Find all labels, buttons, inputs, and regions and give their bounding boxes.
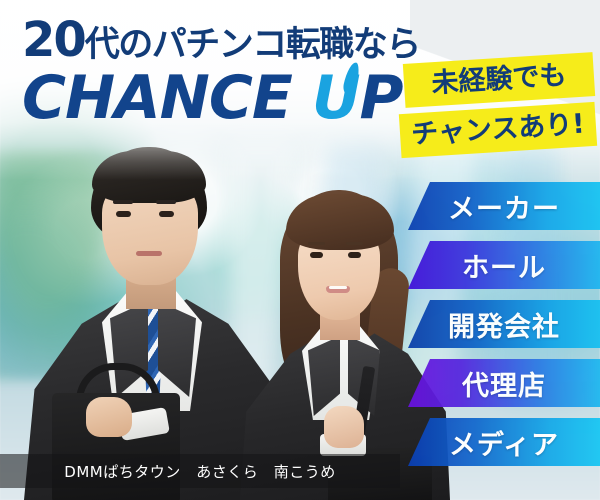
female-eyebrow-right <box>346 242 363 245</box>
headline-age-number: 20 <box>22 12 85 68</box>
category-bar-maker[interactable]: メーカー <box>408 182 600 230</box>
female-teeth <box>329 286 347 289</box>
logo-text-chance: CHANCE <box>22 63 312 133</box>
headline-line-1: 20代のパチンコ転職なら <box>22 16 420 64</box>
female-hand <box>324 406 364 448</box>
male-eye-right <box>159 211 174 217</box>
logo-chance-up: CHANCE UP <box>22 68 420 128</box>
female-eye-right <box>348 252 361 258</box>
female-hair-fringe <box>286 194 394 250</box>
female-eyebrow-left <box>308 242 325 245</box>
male-eyebrow-left <box>113 200 133 204</box>
female-eye-left <box>310 252 323 258</box>
headline-block: 20代のパチンコ転職なら CHANCE UP <box>22 16 420 128</box>
logo-letter-p: P <box>360 63 403 133</box>
credit-strip: DMMぱちタウン あさくら 南こうめ <box>0 454 400 488</box>
category-bar-list: メーカー ホール 開発会社 代理店 メディア <box>408 182 600 477</box>
category-bar-hall[interactable]: ホール <box>408 241 600 289</box>
ad-banner[interactable]: 20代のパチンコ転職なら CHANCE UP 未経験でも チャンスあり! メーカ… <box>0 0 600 500</box>
people-photo-group <box>0 140 420 500</box>
male-eyebrow-right <box>156 200 176 204</box>
logo-letter-u-accent: U <box>312 68 360 128</box>
headline-line-1-rest: 代のパチンコ転職なら <box>85 25 420 65</box>
category-bar-development-company[interactable]: 開発会社 <box>408 300 600 348</box>
category-bar-media[interactable]: メディア <box>408 418 600 466</box>
male-eye-left <box>116 211 131 217</box>
category-bar-agency[interactable]: 代理店 <box>408 359 600 407</box>
male-mouth <box>136 251 162 256</box>
male-hand <box>86 397 132 437</box>
